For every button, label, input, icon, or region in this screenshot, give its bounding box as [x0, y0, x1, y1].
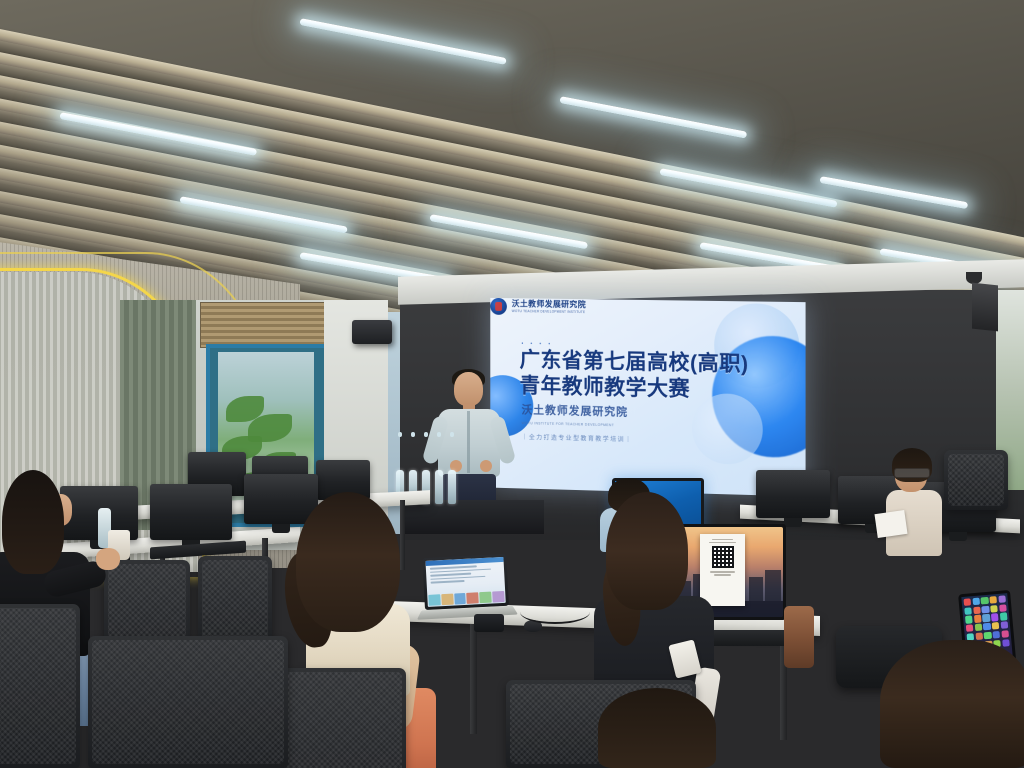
mobile-phone[interactable]	[474, 614, 504, 632]
slide-deco-marks: • • • •	[522, 341, 554, 347]
attendee-foreground	[278, 492, 428, 768]
monitor	[756, 470, 830, 518]
bamboo-shutter	[200, 302, 332, 348]
laptop-image-strip	[427, 590, 506, 607]
slide-subtitle-cn: 沃土教师发展研究院	[522, 401, 629, 419]
ceiling-light-tube	[299, 18, 506, 65]
office-chair	[88, 636, 288, 768]
presenter-hand-right	[480, 460, 492, 472]
logo-text-en: WOTU TEACHER DEVELOPMENT INSTITUTE	[512, 309, 586, 314]
attendee-mid-hair	[606, 492, 688, 610]
attendee-bottom-right-hair	[880, 640, 1024, 768]
staff-right	[880, 448, 950, 558]
monitor	[150, 484, 232, 540]
water-bottle	[448, 470, 456, 504]
ceiling-speaker-icon	[972, 283, 998, 332]
glasses-icon	[894, 468, 930, 478]
slide-title-line-2: 青年教师教学大赛	[520, 373, 749, 403]
office-chair	[944, 450, 1008, 510]
slide-title: 广东省第七届高校(高职) 青年教师教学大赛	[520, 348, 749, 404]
attendee-foreground-hair	[296, 492, 400, 632]
laptop-screen	[422, 554, 509, 610]
slide-title-line-1: 广东省第七届高校(高职)	[520, 348, 749, 378]
paper-sheet	[874, 510, 907, 538]
thermos-flask	[784, 606, 814, 668]
attendee-bottom-right	[880, 640, 1024, 768]
decor-blob-faint	[692, 393, 763, 465]
attendee-bottom-center	[598, 688, 716, 768]
slide-tagline: ｜全力打造专业型教育教学培训｜	[522, 432, 633, 444]
attendee-left-hair	[2, 470, 64, 574]
projection-screen: 沃土教师发展研究院 WOTU TEACHER DEVELOPMENT INSTI…	[490, 298, 805, 497]
presenter-shirt-placket	[467, 411, 470, 473]
laptop-app-toolbar	[425, 557, 503, 566]
office-chair	[272, 668, 406, 768]
ceiling-light-tube	[559, 96, 747, 139]
office-chair	[0, 604, 80, 768]
water-bottle	[435, 470, 443, 504]
desk-leg	[470, 624, 477, 734]
attendee-bottom-center-hair	[598, 688, 716, 768]
wall-speaker-icon	[352, 320, 392, 344]
attendee-left-hands	[96, 548, 120, 570]
classroom-photo: 沃土教师发展研究院 WOTU TEACHER DEVELOPMENT INSTI…	[0, 0, 1024, 768]
slide-subtitle-en: WOTU INSTITUTE FOR TEACHER DEVELOPMENT	[522, 421, 615, 427]
institute-seal-icon	[490, 298, 507, 315]
presenter-head	[454, 372, 483, 406]
